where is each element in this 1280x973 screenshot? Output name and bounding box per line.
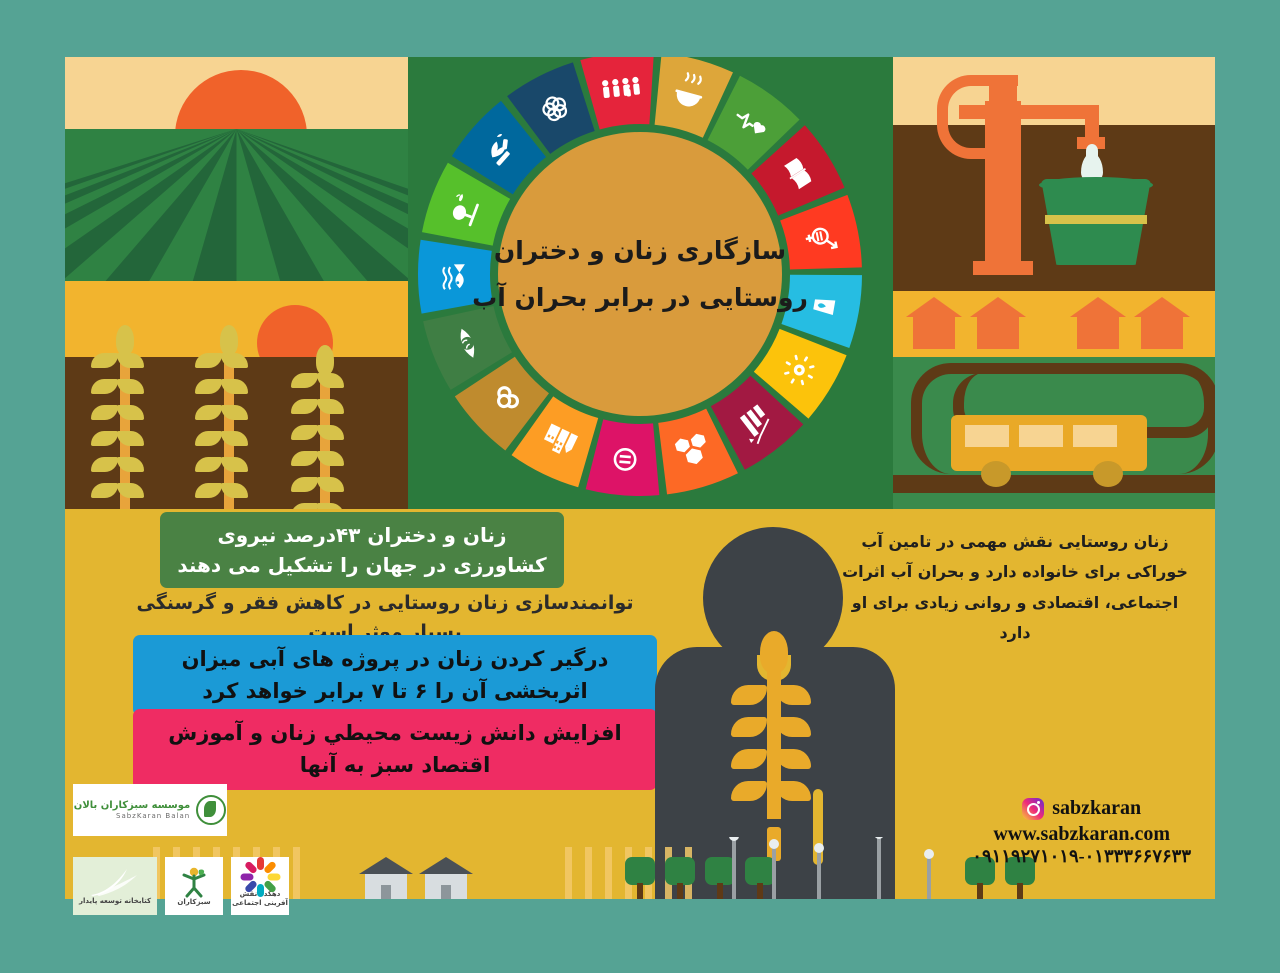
wheel-center-text: سازگاری زنان و دختران روستایی در برابر ب…	[498, 132, 782, 416]
instagram-row[interactable]: sabzkaran	[972, 797, 1191, 820]
wind-turbine-icon	[725, 837, 743, 899]
wheat-stalk-icon	[105, 319, 145, 509]
light-stripe	[585, 847, 592, 899]
sabzkaran-logo: موسسه سبزکاران بالان SabzKaran Balan	[73, 784, 227, 836]
fact-pink-text: افزایش دانش زیست محیطي زنان و آموزش اقتص…	[168, 721, 621, 777]
wind-turbine-icon	[810, 849, 828, 899]
bucket-band-icon	[1045, 215, 1147, 224]
instagram-icon[interactable]	[1022, 798, 1044, 820]
library-plant-icon	[87, 867, 143, 897]
house-icon	[365, 873, 407, 899]
gef-sgp-logo: سبزکاران	[165, 857, 223, 915]
bus-icon	[951, 415, 1147, 471]
social-village-logo: دهکده نقش آفرینی اجتماعی	[231, 857, 289, 915]
tree-icon	[625, 855, 655, 899]
bus-wheel	[1093, 461, 1123, 487]
wind-turbine-icon	[765, 845, 783, 899]
wheat-stalk-icon	[209, 319, 249, 509]
village-hut-icon	[1141, 315, 1183, 349]
sabzkaran-logo-en: SabzKaran Balan	[74, 812, 190, 820]
hand-pump-arm-icon	[959, 105, 1099, 119]
wind-turbine-icon	[870, 837, 888, 899]
bus-window	[965, 425, 1009, 447]
sabzkaran-logo-fa: موسسه سبزکاران بالان	[74, 800, 190, 812]
farm-illustration	[65, 57, 408, 509]
tree-icon	[665, 855, 695, 899]
fact-blue-text: درگیر کردن زنان در پروژه های آبی میزان ا…	[182, 647, 609, 703]
bus-window	[1019, 425, 1063, 447]
fact-box-pink: افزایش دانش زیست محیطي زنان و آموزش اقتص…	[133, 709, 657, 790]
light-stripe	[565, 847, 572, 899]
gef-sgp-logo-caption: سبزکاران	[177, 898, 210, 907]
pinwheel-icon	[247, 864, 273, 890]
plowed-field	[65, 129, 408, 281]
fact-box-blue: درگیر کردن زنان در پروژه های آبی میزان ا…	[133, 635, 657, 716]
sabzkaran-logo-text: موسسه سبزکاران بالان SabzKaran Balan	[74, 800, 190, 820]
wheel-center-line-2: روستایی در برابر بحران آب	[472, 274, 808, 322]
village-road-edge	[893, 475, 1215, 493]
bus-window	[1073, 425, 1117, 447]
wheat-stalk-icon	[305, 339, 345, 509]
light-stripe	[605, 847, 612, 899]
leaf-tree-icon	[196, 795, 226, 825]
top-illustration-band: سازگاری زنان و دختران روستایی در برابر ب…	[65, 57, 1215, 509]
phone-numbers: ۰۹۱۱۹۲۷۱۰۱۹-۰۱۳۳۳۶۶۷۶۳۳	[972, 846, 1191, 867]
wheel-center-line-1: سازگاری زنان و دختران	[494, 227, 786, 275]
figure-wheat-tip	[760, 631, 788, 673]
hand-pump-column-icon	[985, 101, 1021, 271]
fact-box-green: زنان و دختران ۴۳درصد نیروی کشاورزی در جه…	[160, 512, 564, 588]
website-url[interactable]: www.sabzkaran.com	[972, 823, 1191, 846]
poster-canvas: «۱۵ اکتبر روز زنان روستایی و عشایری»	[65, 57, 1215, 917]
library-logo-caption: کتابخانه توسعه پایدار	[79, 897, 151, 906]
contact-block: sabzkaran www.sabzkaran.com ۰۹۱۱۹۲۷۱۰۱۹-…	[972, 797, 1191, 867]
house-icon	[425, 873, 467, 899]
wind-turbine-icon	[920, 855, 938, 899]
village-hut-icon	[977, 315, 1019, 349]
sdg-wheel: سازگاری زنان و دختران روستایی در برابر ب…	[415, 57, 865, 501]
library-logo: کتابخانه توسعه پایدار	[73, 857, 157, 915]
hand-pump-base-icon	[973, 261, 1033, 275]
village-water-illustration	[893, 57, 1215, 509]
light-stripe	[293, 847, 300, 899]
village-hut-icon	[913, 315, 955, 349]
village-hut-icon	[1077, 315, 1119, 349]
fact-green-text: زنان و دختران ۴۳درصد نیروی کشاورزی در جه…	[177, 523, 546, 577]
instagram-handle: sabzkaran	[1052, 797, 1141, 820]
person-plant-icon	[180, 866, 208, 898]
bus-wheel	[981, 461, 1011, 487]
